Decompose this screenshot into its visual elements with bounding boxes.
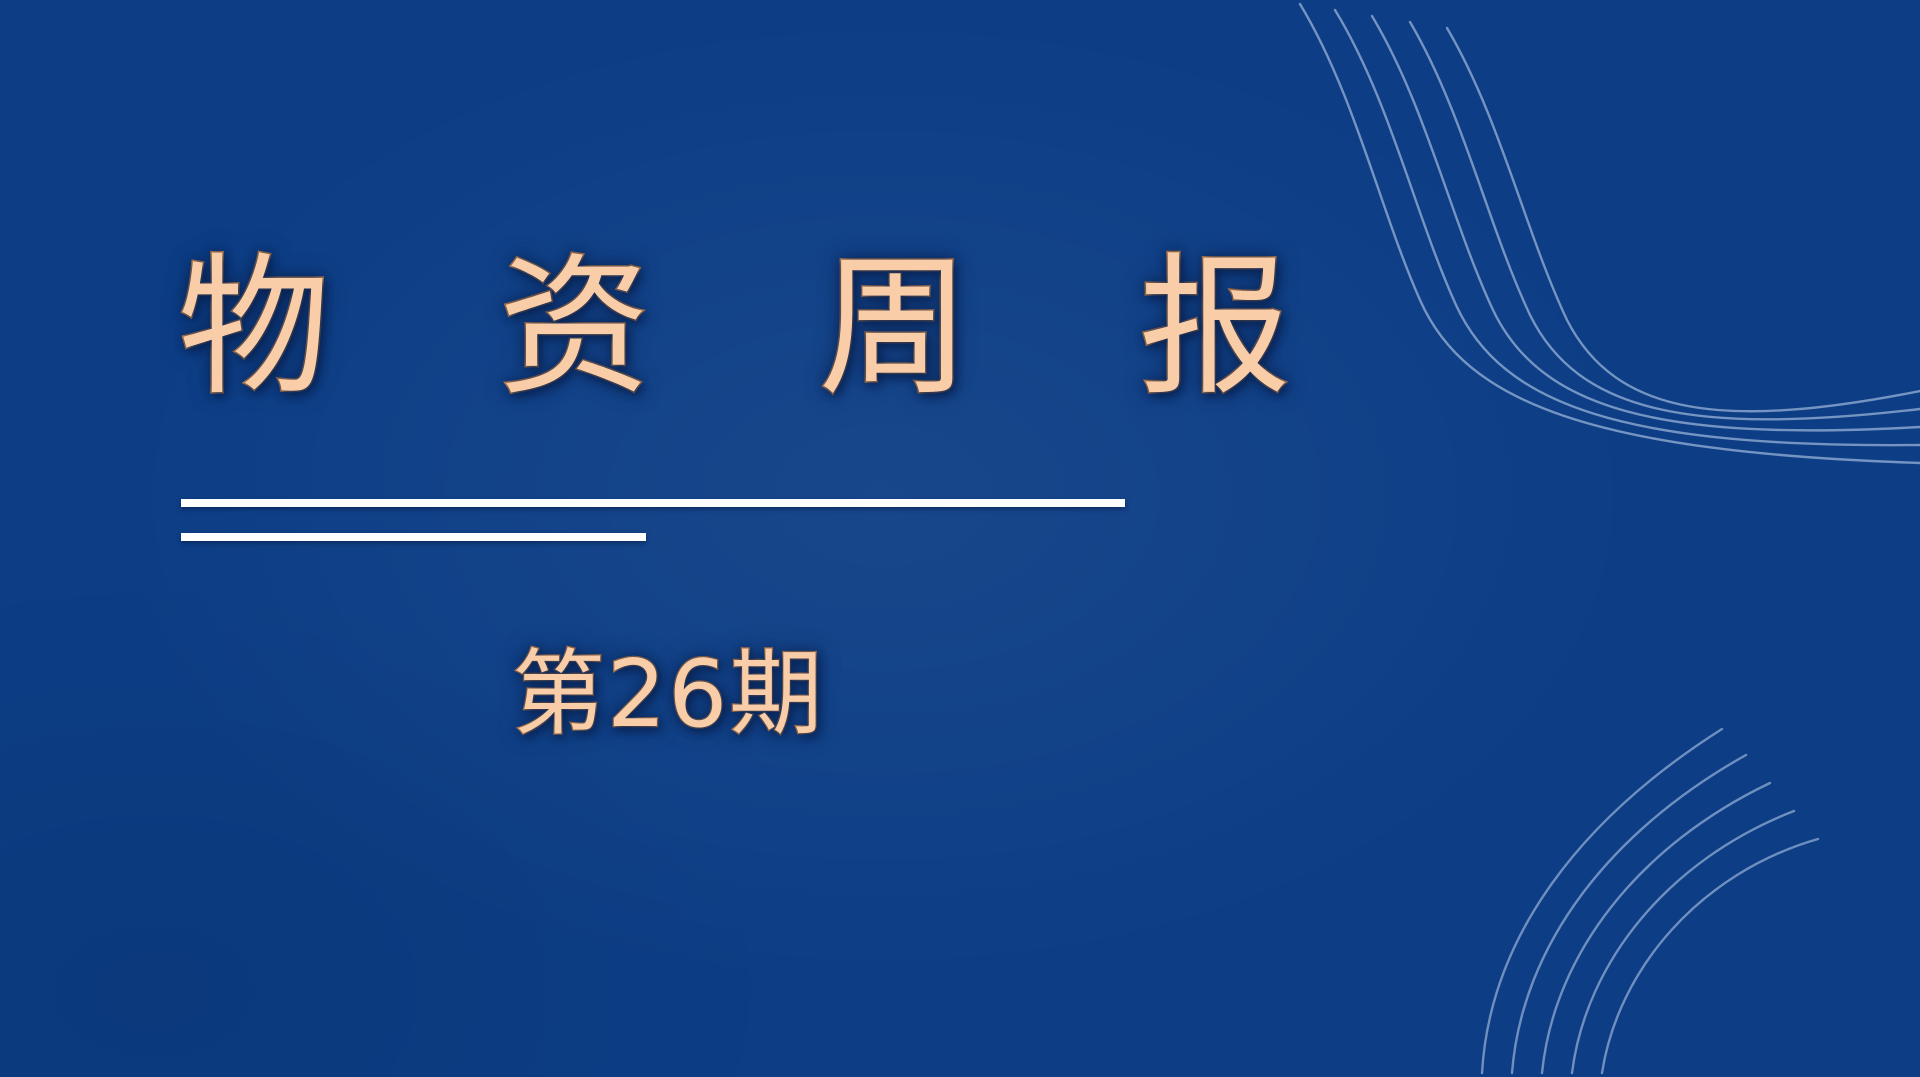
page-title: 物 资 周 报	[178, 252, 1351, 404]
s-curve-line-1	[1300, 4, 1920, 463]
arc-line-1	[1482, 729, 1722, 1073]
title-block: 物 资 周 报	[178, 252, 1351, 404]
title-slide: 物 资 周 报 第26期	[0, 0, 1920, 1077]
arc-line-2	[1512, 755, 1746, 1073]
s-curve-line-2	[1335, 10, 1920, 445]
s-curve-lines-decoration	[1260, 0, 1920, 470]
subtitle-block: 第26期	[512, 646, 824, 744]
arc-line-3	[1542, 783, 1770, 1073]
s-curve-line-4	[1410, 22, 1920, 419]
title-underline-long	[181, 499, 1125, 507]
s-curve-line-5	[1447, 28, 1920, 411]
issue-subtitle: 第26期	[512, 646, 824, 744]
s-curve-line-3	[1372, 16, 1920, 430]
title-underline-short	[181, 533, 646, 541]
arc-lines-decoration	[1280, 607, 1920, 1077]
arc-line-5	[1602, 839, 1818, 1073]
arc-line-4	[1572, 811, 1794, 1073]
